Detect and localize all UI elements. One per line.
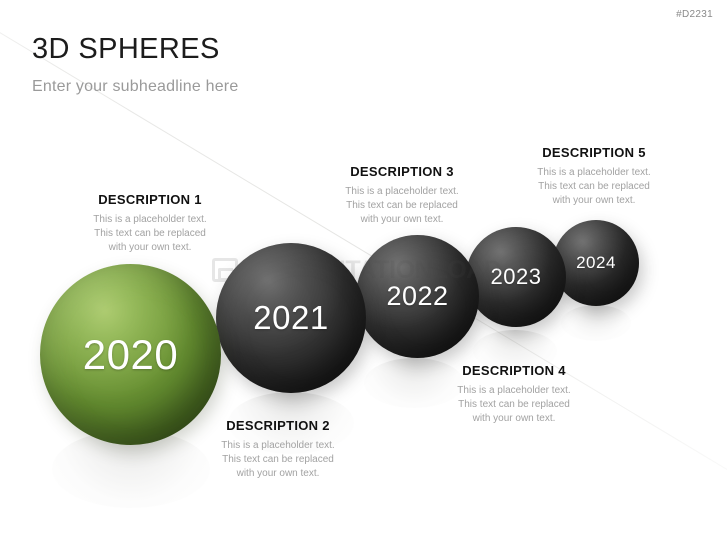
page-title: 3D SPHERES xyxy=(32,33,220,66)
sphere-2022[interactable]: 2022 xyxy=(356,235,479,358)
sphere-label-2024: 2024 xyxy=(576,253,616,273)
description-title-4: DESCRIPTION 4 xyxy=(424,363,604,378)
description-body-5: This is a placeholder text. This text ca… xyxy=(504,166,684,207)
sphere-label-2020: 2020 xyxy=(83,331,178,379)
slide-canvas: #D2231 3D SPHERES Enter your subheadline… xyxy=(0,0,727,545)
description-title-2: DESCRIPTION 2 xyxy=(188,418,368,433)
sphere-label-2021: 2021 xyxy=(253,299,328,337)
description-title-5: DESCRIPTION 5 xyxy=(504,145,684,160)
description-title-3: DESCRIPTION 3 xyxy=(312,164,492,179)
sphere-2021[interactable]: 2021 xyxy=(216,243,366,393)
description-body-3: This is a placeholder text. This text ca… xyxy=(312,185,492,226)
description-body-1: This is a placeholder text. This text ca… xyxy=(60,213,240,254)
page-subtitle: Enter your subheadline here xyxy=(32,78,238,96)
sphere-2023[interactable]: 2023 xyxy=(466,227,566,327)
description-title-1: DESCRIPTION 1 xyxy=(60,192,240,207)
sphere-label-2022: 2022 xyxy=(386,281,448,312)
description-body-2: This is a placeholder text. This text ca… xyxy=(188,439,368,480)
document-code: #D2231 xyxy=(676,9,713,20)
sphere-label-2023: 2023 xyxy=(491,264,542,290)
description-body-4: This is a placeholder text. This text ca… xyxy=(424,384,604,425)
description-block-3: DESCRIPTION 3 This is a placeholder text… xyxy=(312,164,492,226)
description-block-1: DESCRIPTION 1 This is a placeholder text… xyxy=(60,192,240,254)
description-block-2: DESCRIPTION 2 This is a placeholder text… xyxy=(188,418,368,480)
description-block-4: DESCRIPTION 4 This is a placeholder text… xyxy=(424,363,604,425)
description-block-5: DESCRIPTION 5 This is a placeholder text… xyxy=(504,145,684,207)
sphere-reflection-5 xyxy=(561,305,631,341)
sphere-2024[interactable]: 2024 xyxy=(553,220,639,306)
